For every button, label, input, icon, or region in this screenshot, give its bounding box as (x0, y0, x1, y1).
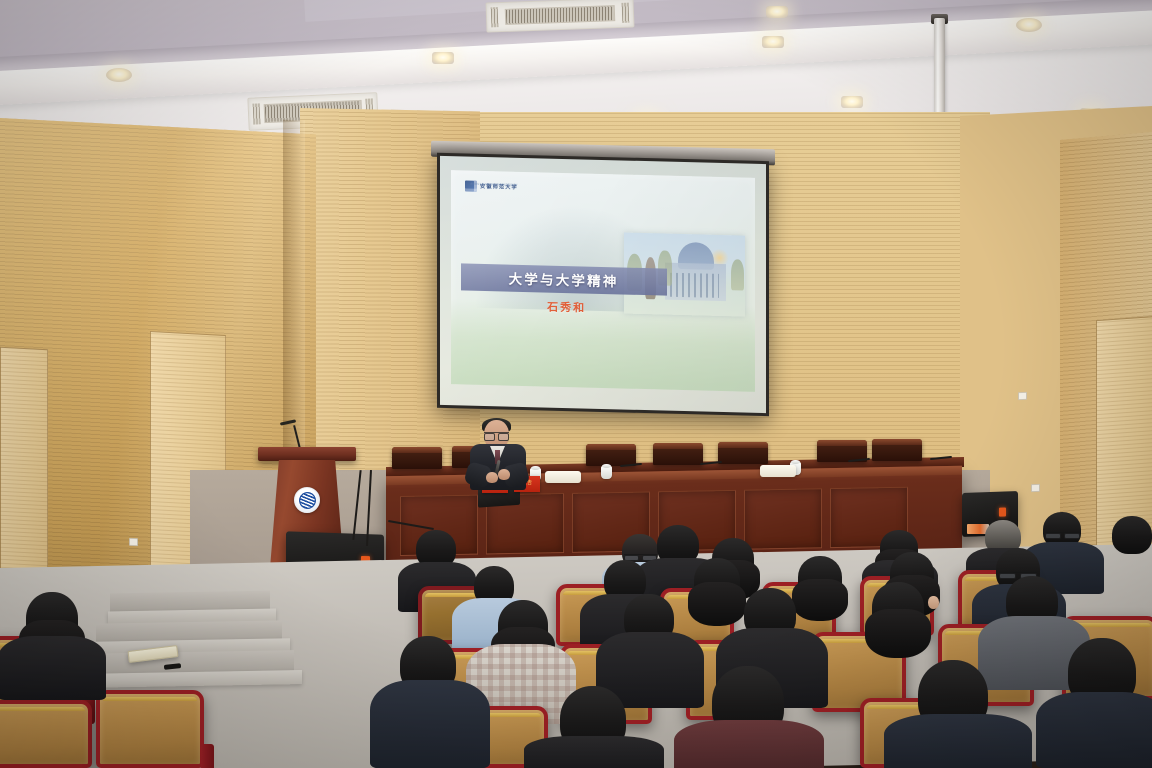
air-vent (486, 0, 635, 33)
power-led-icon (999, 507, 1006, 516)
audience-shoulders (0, 636, 106, 700)
slide-title-bar: 大学与大学精神 (461, 263, 667, 295)
audience-shoulders (1036, 692, 1152, 768)
downlight-icon (1016, 18, 1042, 32)
downlight-icon (841, 96, 863, 108)
audience-shoulders (524, 736, 664, 768)
screen-frame: 安徽师范大学 ANHUI NORMAL UNIVERSITY (437, 153, 769, 416)
podium-top (258, 447, 356, 461)
slide-author: 石秀和 (512, 298, 621, 317)
lecturer-hand (486, 472, 498, 483)
glasses-icon (624, 554, 657, 558)
audience-person (872, 582, 924, 634)
glasses-icon (1045, 532, 1080, 536)
glasses-icon (484, 432, 509, 438)
folded-towel (545, 471, 581, 483)
stage-chair (586, 444, 636, 466)
projection-screen: 安徽师范大学 ANHUI NORMAL UNIVERSITY (437, 153, 769, 416)
wall-outlet[interactable] (1031, 484, 1040, 492)
auditorium-seat[interactable] (0, 700, 92, 768)
audience-shoulders (674, 720, 824, 768)
wall-outlet[interactable] (129, 538, 138, 546)
audience-person (1112, 516, 1152, 554)
downlight-icon (762, 36, 784, 48)
audience-shoulders (370, 680, 490, 768)
stage-chair (718, 442, 768, 464)
stage-chair (653, 443, 703, 465)
downlight-icon (106, 68, 132, 82)
folded-towel (760, 465, 796, 477)
auditorium-seat[interactable] (96, 690, 204, 768)
presentation-slide: 安徽师范大学 ANHUI NORMAL UNIVERSITY (451, 170, 754, 392)
slide-title: 大学与大学精神 (509, 268, 619, 291)
audience-person (694, 558, 740, 604)
table-panel (744, 488, 822, 549)
wall-outlet[interactable] (1018, 392, 1027, 400)
screen-surface: 安徽师范大学 ANHUI NORMAL UNIVERSITY (440, 156, 766, 413)
stage-chair (872, 439, 922, 461)
head (872, 582, 924, 634)
head (1112, 516, 1152, 554)
stage-chair (392, 447, 442, 469)
lecturer-hand (498, 469, 510, 480)
lecturer (470, 420, 526, 490)
head (798, 556, 842, 600)
university-emblem-icon (294, 487, 320, 513)
head (694, 558, 740, 604)
hand (928, 596, 939, 609)
tea-cup (601, 466, 612, 479)
lecture-hall-photo: 安徽师范大学 ANHUI NORMAL UNIVERSITY (0, 0, 1152, 768)
emblem-globe-icon (299, 492, 316, 509)
audience-person (798, 556, 842, 600)
downlight-icon (766, 6, 788, 18)
audience-shoulders (884, 714, 1032, 768)
tree-icon (731, 259, 744, 290)
building-columns (670, 272, 719, 298)
downlight-icon (432, 52, 454, 64)
